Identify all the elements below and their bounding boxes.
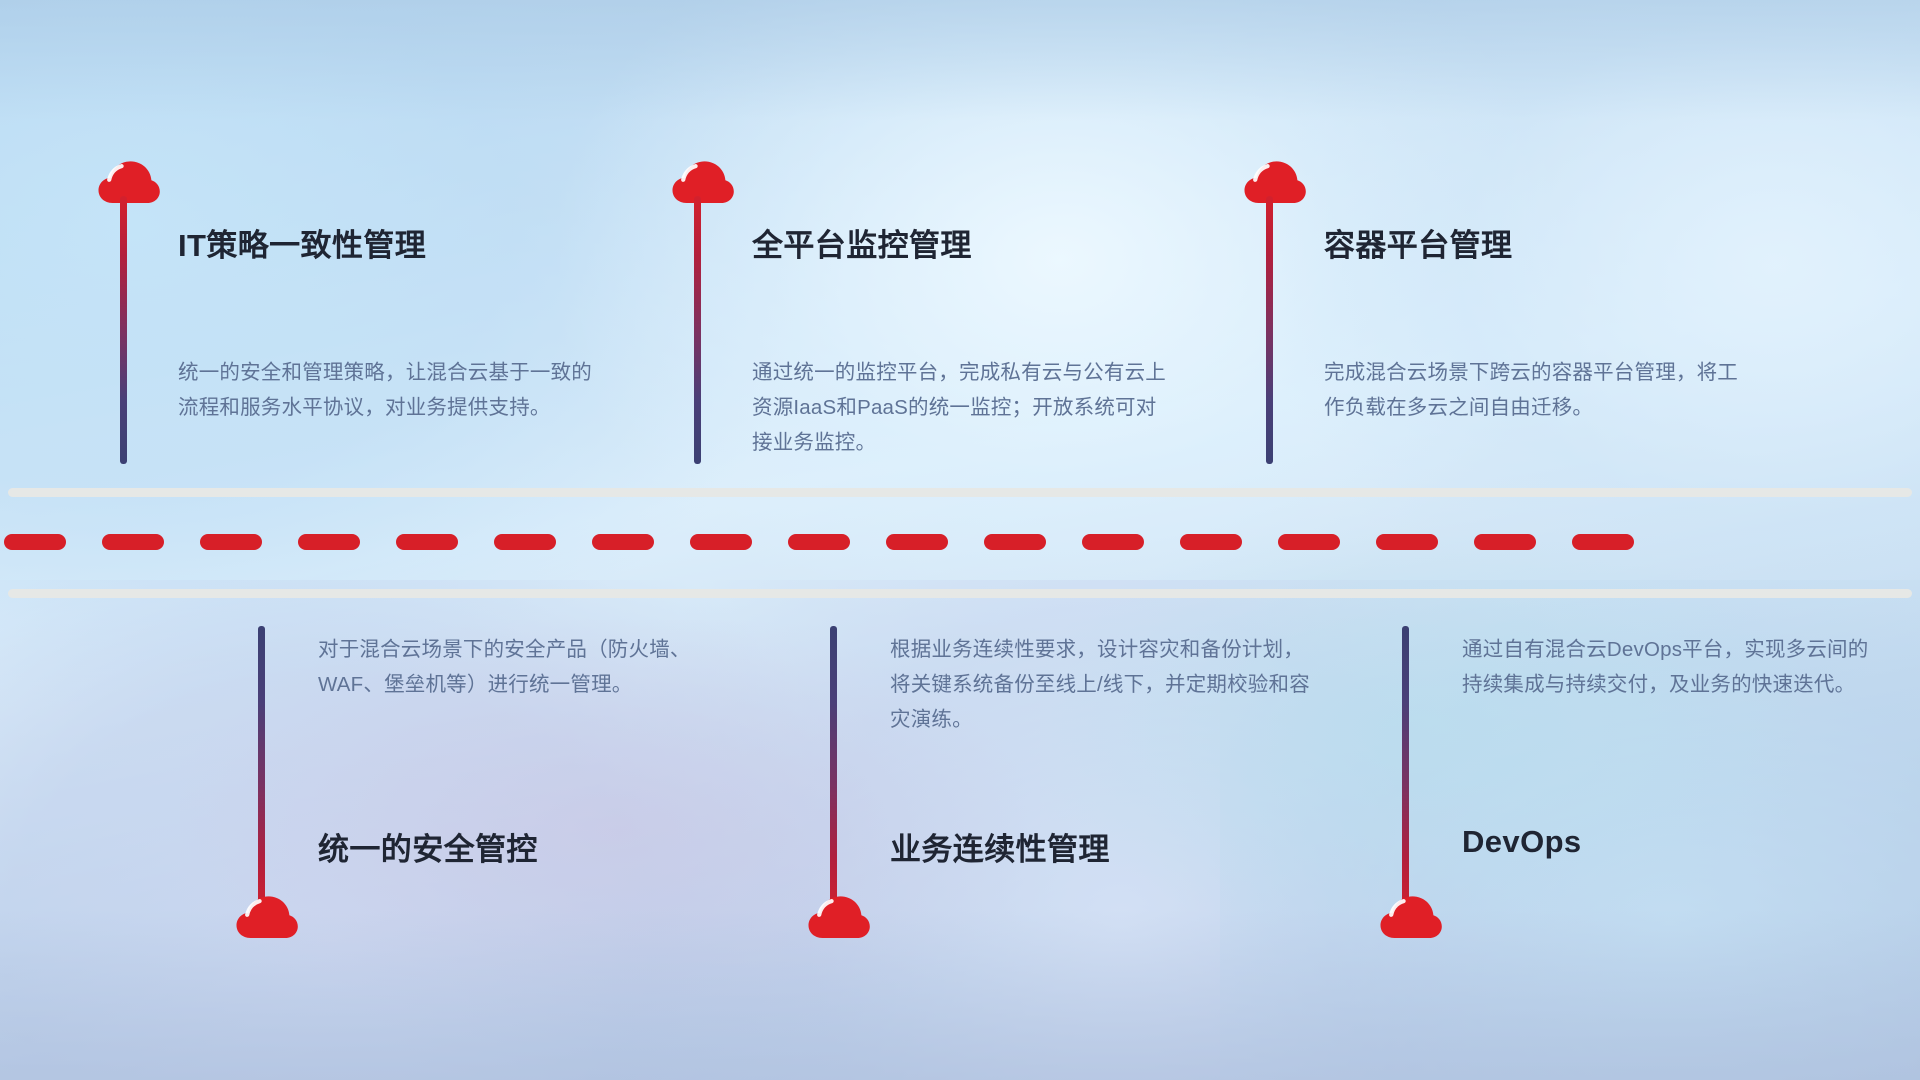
background-vignette-top [0, 0, 1920, 120]
marker-body: 完成混合云场景下跨云的容器平台管理，将工作负载在多云之间自由迁移。 [1324, 355, 1744, 425]
cloud-icon [1380, 895, 1442, 939]
road-dash [102, 534, 164, 550]
road-dash [690, 534, 752, 550]
marker-title: 统一的安全管控 [318, 824, 538, 869]
road-dash [494, 534, 556, 550]
marker-body: 通过自有混合云DevOps平台，实现多云间的持续集成与持续交付，及业务的快速迭代… [1462, 632, 1882, 702]
road-dash [1278, 534, 1340, 550]
road-line-bottom [8, 589, 1912, 598]
marker-stem [830, 626, 837, 920]
road-dash [396, 534, 458, 550]
road-dash [1376, 534, 1438, 550]
road-dash [200, 534, 262, 550]
cloud-icon [672, 160, 734, 204]
road-line-top [8, 488, 1912, 497]
road-dash [592, 534, 654, 550]
road-dashes [0, 534, 1920, 550]
road-dash [788, 534, 850, 550]
road-dash [1180, 534, 1242, 550]
marker-stem [694, 196, 701, 464]
cloud-icon [98, 160, 160, 204]
marker-title: 容器平台管理 [1324, 220, 1512, 265]
marker-title: DevOps [1462, 824, 1582, 860]
road-divider [0, 488, 1920, 598]
cloud-icon [236, 895, 298, 939]
marker-body: 统一的安全和管理策略，让混合云基于一致的流程和服务水平协议，对业务提供支持。 [178, 355, 598, 425]
road-dash [298, 534, 360, 550]
marker-stem [258, 626, 265, 920]
road-dash [886, 534, 948, 550]
marker-body: 根据业务连续性要求，设计容灾和备份计划，将关键系统备份至线上/线下，并定期校验和… [890, 632, 1310, 737]
road-dash [4, 534, 66, 550]
marker-body: 通过统一的监控平台，完成私有云与公有云上资源IaaS和PaaS的统一监控；开放系… [752, 355, 1172, 460]
marker-title: IT策略一致性管理 [178, 220, 426, 265]
marker-stem [120, 196, 127, 464]
road-dash [1572, 534, 1634, 550]
marker-title: 业务连续性管理 [890, 824, 1110, 869]
marker-title: 全平台监控管理 [752, 220, 972, 265]
road-dash [1474, 534, 1536, 550]
road-dash [1082, 534, 1144, 550]
cloud-icon [808, 895, 870, 939]
cloud-icon [1244, 160, 1306, 204]
marker-stem [1266, 196, 1273, 464]
marker-body: 对于混合云场景下的安全产品（防火墙、WAF、堡垒机等）进行统一管理。 [318, 632, 738, 702]
road-dash [984, 534, 1046, 550]
marker-stem [1402, 626, 1409, 920]
